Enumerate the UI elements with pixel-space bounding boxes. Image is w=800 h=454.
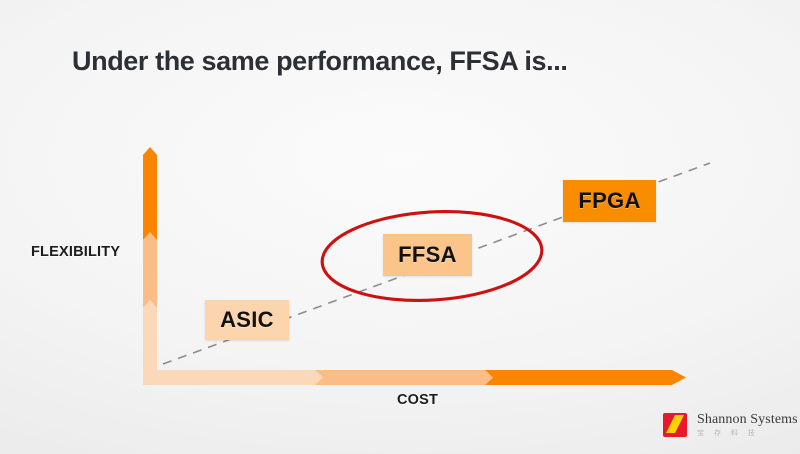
data-node-ffsa[interactable]: FFSA — [383, 234, 472, 276]
logo-subtitle: 宝 存 科 技 — [697, 430, 798, 437]
y-axis-segment-high — [143, 147, 157, 240]
x-axis-label: COST — [397, 392, 438, 408]
y-axis-segment-mid — [143, 232, 157, 308]
logo-text: Shannon Systems 宝 存 科 技 — [697, 413, 798, 437]
x-axis-segment-mid — [315, 370, 493, 385]
slide-canvas: Under the same performance, FFSA is... — [0, 0, 800, 454]
chart-graphic — [0, 0, 800, 454]
y-axis-label: FLEXIBILITY — [31, 244, 120, 260]
x-axis-segment-low — [143, 370, 323, 385]
shannon-logo-icon — [662, 412, 688, 438]
x-axis-segment-high — [485, 370, 686, 385]
data-node-asic[interactable]: ASIC — [205, 300, 289, 340]
logo-company-name: Shannon Systems — [697, 413, 798, 427]
brand-logo: Shannon Systems 宝 存 科 技 — [662, 412, 798, 438]
data-node-fpga[interactable]: FPGA — [563, 180, 656, 222]
